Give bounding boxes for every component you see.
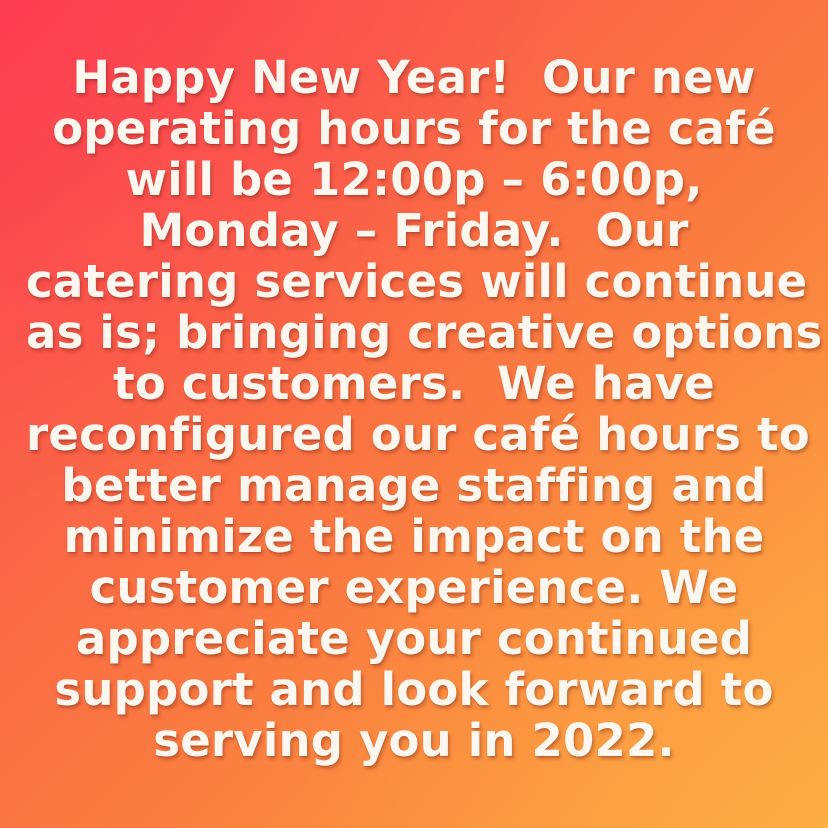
message-line: appreciate your continued — [26, 613, 802, 664]
message-line: catering services will continue — [26, 256, 802, 307]
message-line: support and look forward to — [26, 664, 802, 715]
message-line: will be 12:00p – 6:00p, — [26, 154, 802, 205]
message-line: Monday – Friday. Our — [26, 205, 802, 256]
announcement-card: Happy New Year! Our new operating hours … — [0, 0, 828, 828]
message-line: to customers. We have — [26, 358, 802, 409]
message-line: customer experience. We — [26, 562, 802, 613]
message-line: Happy New Year! Our new — [26, 52, 802, 103]
message-line: better manage staffing and — [26, 460, 802, 511]
message-line: serving you in 2022. — [26, 715, 802, 766]
message-line: as is; bringing creative options — [26, 307, 802, 358]
announcement-message: Happy New Year! Our new operating hours … — [0, 0, 828, 766]
message-line: minimize the impact on the — [26, 511, 802, 562]
message-line: operating hours for the café — [26, 103, 802, 154]
message-line: reconfigured our café hours to — [26, 409, 802, 460]
